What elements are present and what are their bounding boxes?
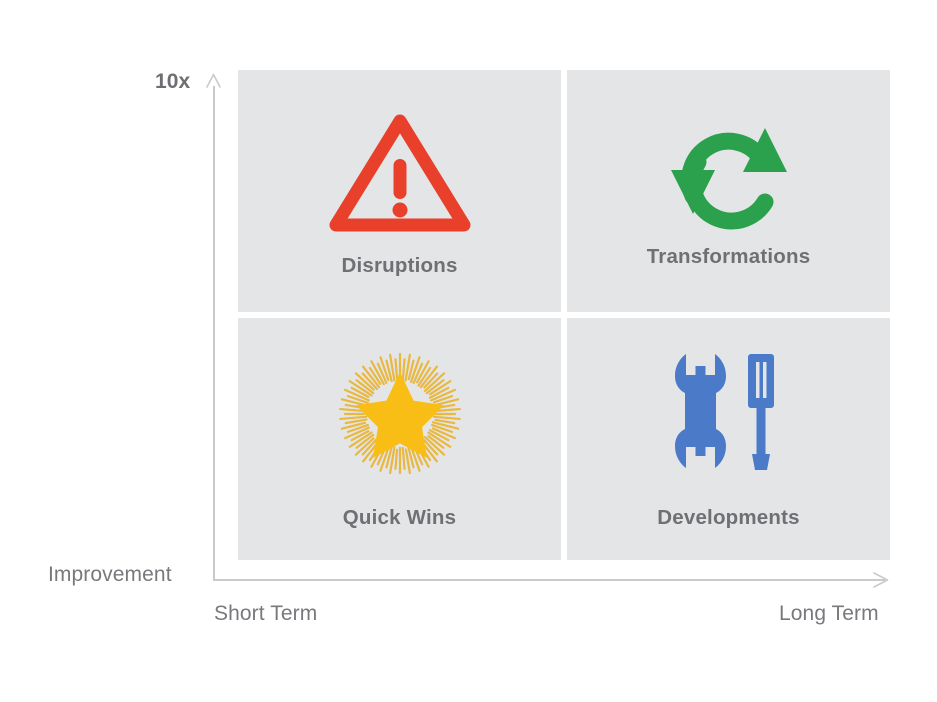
x-axis-line — [213, 579, 885, 581]
y-axis-line — [213, 86, 215, 580]
quadrant-quick-wins[interactable]: Quick Wins — [238, 318, 561, 560]
warning-triangle-icon — [238, 108, 561, 238]
x-axis-start-label: Short Term — [214, 602, 317, 626]
wrench-screwdriver-icon — [567, 346, 890, 476]
quadrant-developments[interactable]: Developments — [567, 318, 890, 560]
quadrant-grid: Disruptions Transformations — [238, 70, 890, 560]
quadrant-label-disruptions: Disruptions — [341, 254, 457, 278]
quadrant-matrix-figure: 10x Improvement Short Term Long Term Dis… — [0, 0, 937, 702]
quadrant-label-transformations: Transformations — [647, 245, 811, 269]
x-axis-end-label: Long Term — [779, 602, 879, 626]
quadrant-disruptions[interactable]: Disruptions — [238, 70, 561, 312]
refresh-cycle-icon — [567, 110, 890, 232]
quadrant-transformations[interactable]: Transformations — [567, 70, 890, 312]
arrow-up-icon — [205, 72, 222, 89]
y-axis-max-label: 10x — [155, 70, 190, 94]
arrow-right-icon — [872, 571, 890, 589]
y-axis-title: Improvement — [48, 563, 172, 587]
starburst-icon — [238, 346, 561, 476]
quadrant-label-developments: Developments — [657, 506, 800, 530]
quadrant-label-quick-wins: Quick Wins — [343, 506, 456, 530]
